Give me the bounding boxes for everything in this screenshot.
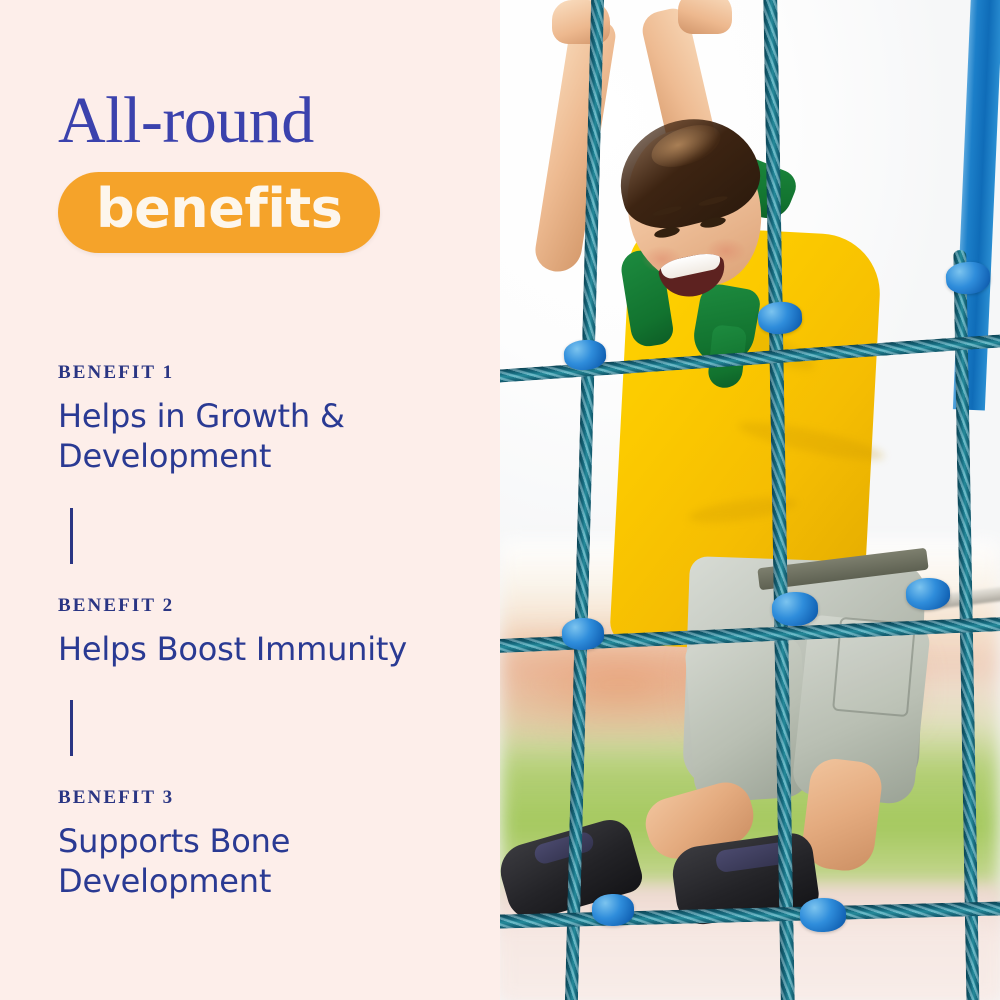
benefit-2-kicker: BENEFIT 2 [58,595,458,617]
benefit-1-kicker: BENEFIT 1 [58,362,458,384]
benefit-3-text: Supports Bone Development [58,821,458,902]
rope-knot-3 [945,261,991,296]
benefit-item-2: BENEFIT 2 Helps Boost Immunity [58,595,458,669]
rope-knot-7 [592,894,635,927]
rope-vertical-1 [565,0,605,1000]
benefits-pill-label: benefits [96,181,342,238]
rope-climbing-net [500,0,1000,1000]
rope-knot-8 [800,898,847,933]
rope-knot-6 [905,577,950,611]
benefit-2-text: Helps Boost Immunity [58,629,458,669]
rope-knot-5 [771,591,818,627]
hero-photo [500,0,1000,1000]
benefit-item-3: BENEFIT 3 Supports Bone Development [58,787,458,902]
rope-knot-2 [757,301,803,336]
benefit-item-1: BENEFIT 1 Helps in Growth & Development [58,362,458,477]
rope-knot-4 [561,617,604,650]
benefit-divider-1 [70,508,73,564]
page-title: All-round [58,88,458,154]
benefit-1-text: Helps in Growth & Development [58,396,458,477]
benefits-pill-badge: benefits [58,172,380,253]
rope-vertical-2 [763,0,795,1000]
benefit-3-kicker: BENEFIT 3 [58,787,458,809]
benefit-divider-2 [70,700,73,756]
benefits-poster: All-round benefits BENEFIT 1 Helps in Gr… [0,0,1000,1000]
benefits-list: BENEFIT 1 Helps in Growth & Development … [58,362,458,902]
headline-block: All-round benefits [58,88,458,253]
left-content-panel: All-round benefits BENEFIT 1 Helps in Gr… [0,0,500,1000]
